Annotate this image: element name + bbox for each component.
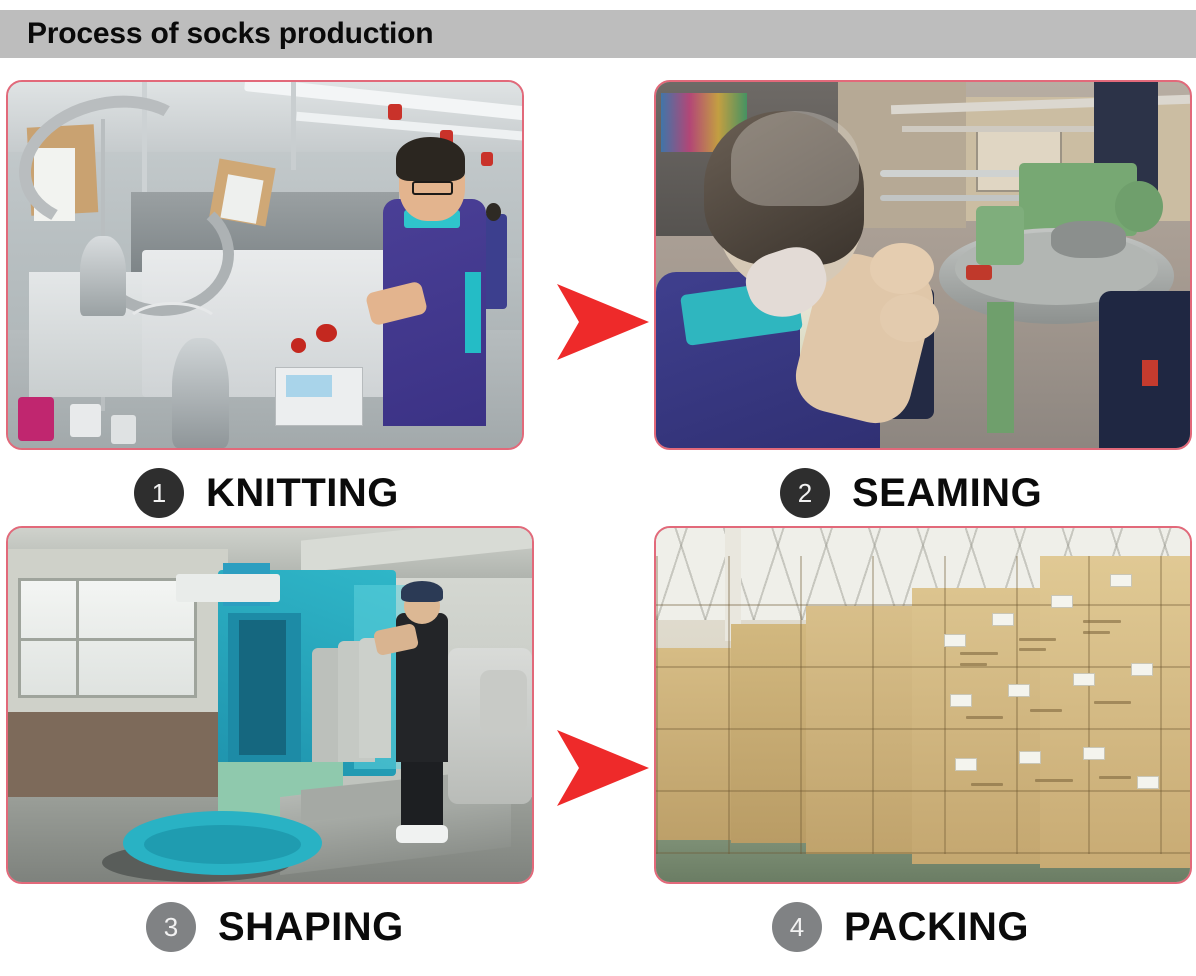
step-image-packing (654, 526, 1192, 884)
step-number-badge-2: 2 (780, 468, 830, 518)
process-infographic-page: Process of socks production (0, 0, 1196, 976)
step-label-seaming: SEAMING (852, 471, 1042, 516)
step-label-knitting: KNITTING (206, 471, 399, 516)
step-number-badge-3: 3 (146, 902, 196, 952)
shaping-scene (8, 528, 532, 882)
process-step-packing: 4 PACKING (654, 526, 1192, 974)
process-step-shaping: 3 SHAPING (6, 526, 534, 974)
step-caption-packing: 4 PACKING (654, 902, 1192, 952)
step-label-packing: PACKING (844, 905, 1029, 950)
arrow-step1-to-step2-icon (553, 280, 653, 364)
step-caption-knitting: 1 KNITTING (6, 468, 524, 518)
step-label-shaping: SHAPING (218, 905, 404, 950)
process-steps-grid: 1 KNITTING (0, 64, 1196, 976)
packing-scene (656, 528, 1190, 882)
step-image-shaping (6, 526, 534, 884)
page-header: Process of socks production (0, 10, 1196, 58)
process-step-seaming: 2 SEAMING (654, 80, 1192, 530)
page-title: Process of socks production (27, 17, 433, 51)
step-number-badge-1: 1 (134, 468, 184, 518)
step-caption-seaming: 2 SEAMING (654, 468, 1192, 518)
step-image-knitting (6, 80, 524, 450)
step-caption-shaping: 3 SHAPING (6, 902, 534, 952)
seaming-scene (656, 82, 1190, 448)
process-step-knitting: 1 KNITTING (6, 80, 524, 530)
step-image-seaming (654, 80, 1192, 450)
step-number-badge-4: 4 (772, 902, 822, 952)
arrow-step3-to-step4-icon (553, 726, 653, 810)
knitting-scene (8, 82, 522, 448)
